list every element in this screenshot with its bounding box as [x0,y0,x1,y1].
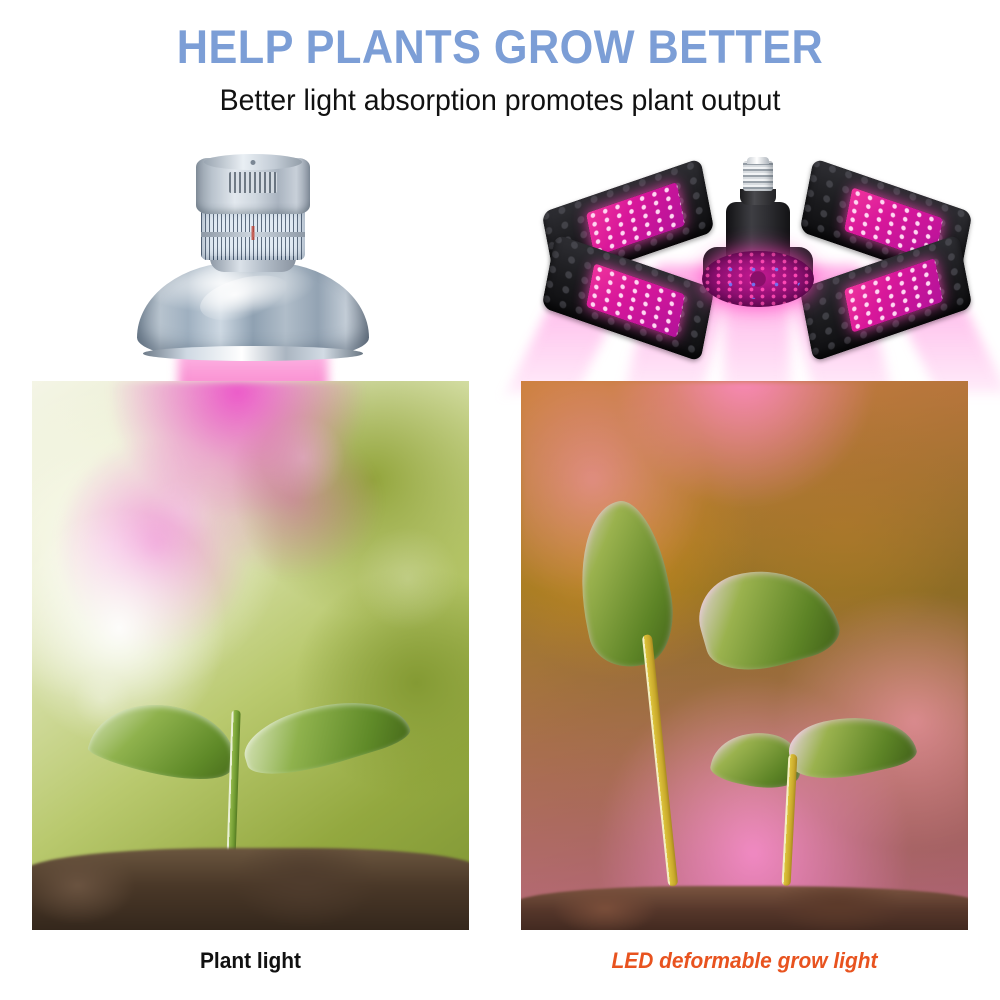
soil [521,886,968,930]
deformable-led-lamp-illustration [548,155,968,380]
led-array [586,182,685,257]
led-array [844,258,943,333]
caption-led-grow-light: LED deformable grow light [532,948,957,974]
high-bay-lamp-illustration [118,150,388,385]
soil [32,848,469,930]
screw-base-tip [747,157,769,164]
lamp-base-collar [740,189,776,205]
heatsink-marker [252,226,255,240]
caption-plant-light: Plant light [43,948,458,974]
led-array [586,263,685,338]
page-subheadline: Better light absorption promotes plant o… [25,84,975,118]
product-comparison-graphic: HELP PLANTS GROW BETTER Better light abs… [0,0,1000,1000]
led-grow-light-photo [521,381,968,930]
plant-light-photo [32,381,469,930]
e27-screw-base [743,161,773,191]
housing-screw-icon [251,160,256,165]
page-headline: HELP PLANTS GROW BETTER [40,22,960,72]
vent-slots-icon [229,172,277,193]
dome-rim [143,346,363,361]
center-led-blue-diodes [715,259,801,299]
